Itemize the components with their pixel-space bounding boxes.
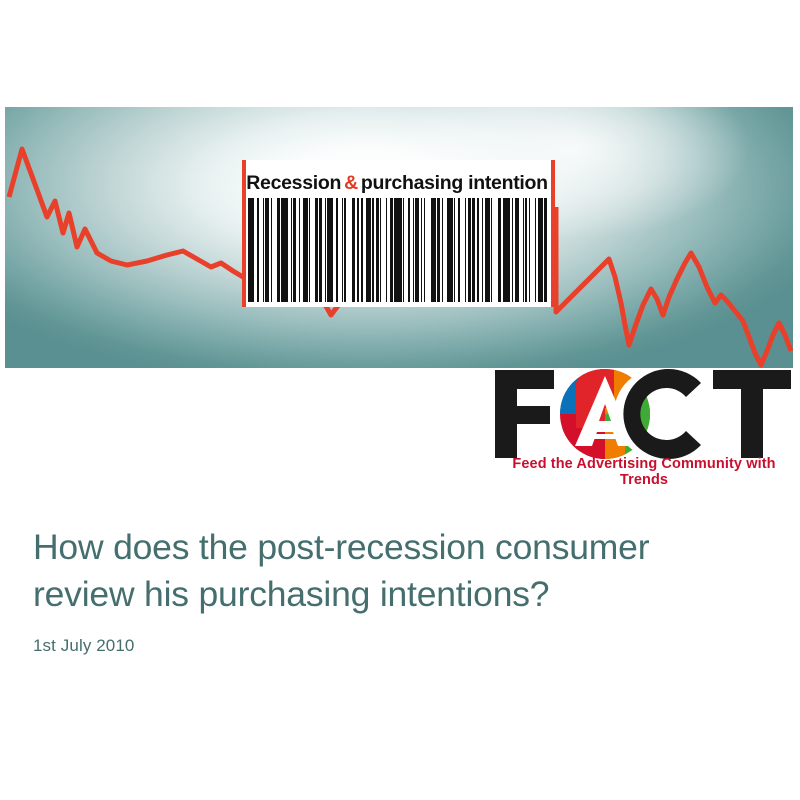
logo-letter-f [495, 370, 554, 458]
logo-letter-c [614, 369, 704, 459]
barcode-title-ampersand: & [341, 172, 361, 194]
page-title: How does the post-recession consumer rev… [33, 524, 763, 618]
presentation-date: 1st July 2010 [33, 636, 763, 656]
barcode-graphic: Recession&purchasing intention [242, 160, 555, 307]
title-block: How does the post-recession consumer rev… [33, 524, 763, 656]
barcode-title-text: Recession&purchasing intention [237, 172, 557, 195]
sparkline-right [556, 207, 791, 365]
barcode-bar [503, 198, 510, 302]
barcode-bar [281, 198, 288, 302]
barcode-space [547, 198, 549, 302]
barcode-title-suffix: purchasing intention [361, 172, 548, 194]
page-title-line-1: How does the post-recession consumer [33, 524, 763, 571]
barcode-bar [394, 198, 401, 302]
page-title-line-2: review his purchasing intentions? [33, 571, 763, 618]
barcode-title: Recession&purchasing intention [248, 168, 549, 198]
logo-letter-t [713, 370, 791, 458]
barcode-title-prefix: Recession [246, 172, 341, 194]
barcode-bars [248, 198, 549, 302]
fact-logo: Feed the Advertising Community with Tren… [492, 368, 794, 480]
logo-tagline: Feed the Advertising Community with Tren… [494, 456, 794, 488]
